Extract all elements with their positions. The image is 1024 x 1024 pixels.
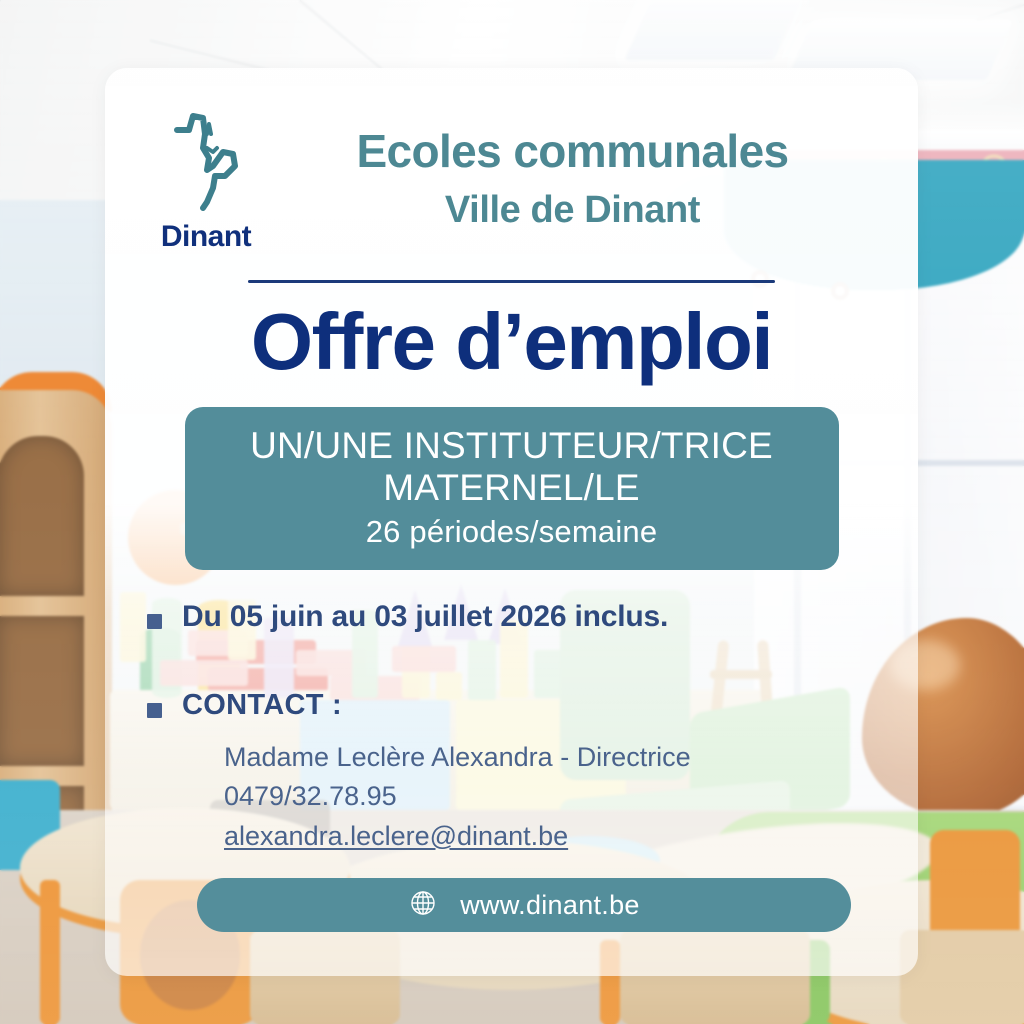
card-header: Dinant Ecoles communales Ville de Dinant: [105, 68, 918, 254]
dinant-logo: Dinant: [147, 104, 265, 254]
website-button[interactable]: www.dinant.be: [197, 878, 851, 932]
contact-email-link[interactable]: alexandra.leclere@dinant.be: [224, 821, 568, 851]
square-bullet-icon: [147, 703, 162, 718]
logo-wordmark: Dinant: [147, 220, 265, 254]
poster-card: Dinant Ecoles communales Ville de Dinant…: [105, 68, 918, 976]
header-title-line2: Ville de Dinant: [287, 191, 858, 231]
bullet-list: Du 05 juin au 03 juillet 2026 inclus. CO…: [105, 600, 918, 855]
job-role-label: UN/UNE INSTITUTEUR/TRICE MATERNEL/LE: [211, 425, 813, 508]
contact-details: Madame Leclère Alexandra - Directrice 04…: [224, 738, 876, 855]
globe-icon: [408, 888, 438, 923]
contact-heading: CONTACT :: [182, 689, 342, 722]
list-item: CONTACT :: [147, 689, 876, 722]
header-divider: [248, 280, 775, 283]
header-titles: Ecoles communales Ville de Dinant: [287, 127, 876, 231]
period-label: Du 05 juin au 03 juillet 2026 inclus.: [182, 600, 668, 634]
contact-name: Madame Leclère Alexandra - Directrice: [224, 738, 876, 777]
job-offer-poster: Dinant Ecoles communales Ville de Dinant…: [0, 0, 1024, 1024]
website-url-label: www.dinant.be: [460, 890, 640, 921]
list-item: Du 05 juin au 03 juillet 2026 inclus.: [147, 600, 876, 634]
job-hours-label: 26 périodes/semaine: [211, 514, 813, 550]
header-title-line1: Ecoles communales: [287, 127, 858, 175]
page-title: Offre d’emploi: [105, 299, 918, 385]
dinant-citadel-icon: [147, 104, 265, 216]
job-title-box: UN/UNE INSTITUTEUR/TRICE MATERNEL/LE 26 …: [185, 407, 839, 570]
square-bullet-icon: [147, 614, 162, 629]
contact-phone: 0479/32.78.95: [224, 777, 876, 816]
